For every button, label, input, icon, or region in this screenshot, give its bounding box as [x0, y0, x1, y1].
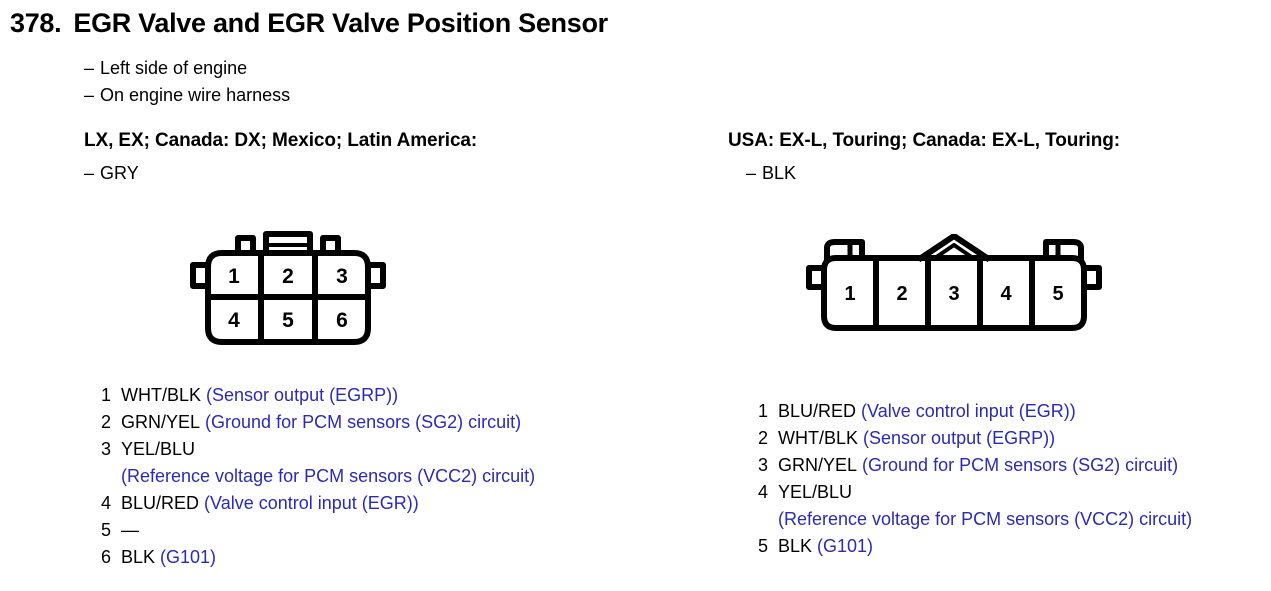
connector-pin-label-3: 3 — [336, 265, 348, 288]
pin-circuit-description: (Valve control input (EGR)) — [861, 401, 1076, 421]
pin-body: BLK(G101) — [121, 544, 704, 571]
connector-color-line-left: –GRY — [84, 163, 704, 184]
connector-pin-label-5: 5 — [1052, 283, 1063, 305]
connector-pin-label-4: 4 — [228, 309, 240, 332]
page-title-number: 378. — [10, 8, 61, 38]
pin-number: 4 — [758, 479, 778, 506]
connector-pin-label-5: 5 — [282, 309, 294, 332]
pin-row: 5 BLK(G101) — [758, 533, 1271, 560]
pin-number: 3 — [101, 436, 121, 463]
pin-body: GRN/YEL(Ground for PCM sensors (SG2) cir… — [121, 409, 704, 436]
pin-body: WHT/BLK(Sensor output (EGRP)) — [778, 425, 1271, 452]
column-heading-right: USA: EX-L, Touring; Canada: EX-L, Tourin… — [728, 130, 1271, 152]
pin-wire-color: WHT/BLK — [121, 385, 201, 405]
pin-wire-color: GRN/YEL — [778, 455, 857, 475]
intro-bullet-item: –On engine wire harness — [84, 82, 290, 109]
pin-circuit-description: (Ground for PCM sensors (SG2) circuit) — [205, 412, 521, 432]
pin-circuit-description: (Sensor output (EGRP)) — [863, 428, 1055, 448]
pin-wire-color: — — [121, 520, 139, 540]
column-heading-left: LX, EX; Canada: DX; Mexico; Latin Americ… — [84, 130, 704, 152]
pin-circuit-description: (Ground for PCM sensors (SG2) circuit) — [862, 455, 1178, 475]
dash-glyph: – — [84, 85, 94, 105]
pin-body: WHT/BLK(Sensor output (EGRP)) — [121, 382, 704, 409]
intro-bullet-item: –Left side of engine — [84, 55, 290, 82]
pin-number: 1 — [758, 398, 778, 425]
pin-row: 1 BLU/RED(Valve control input (EGR)) — [758, 398, 1271, 425]
connector-6pin-svg: 1 2 3 4 5 6 — [188, 220, 388, 350]
pin-wire-color: BLU/RED — [778, 401, 856, 421]
intro-bullet-text: Left side of engine — [100, 58, 247, 78]
dash-glyph: – — [84, 163, 94, 183]
pin-row: 4 BLU/RED(Valve control input (EGR)) — [101, 490, 704, 517]
pin-row: 3 YEL/BLU(Reference voltage for PCM sens… — [101, 436, 704, 490]
dash-glyph: – — [84, 58, 94, 78]
pin-number: 6 — [101, 544, 121, 571]
page-title-text: EGR Valve and EGR Valve Position Sensor — [73, 8, 608, 38]
connector-pin-label-1: 1 — [844, 283, 855, 305]
connector-pin-label-3: 3 — [948, 283, 959, 305]
pin-body: BLK(G101) — [778, 533, 1271, 560]
connector-pin-label-1: 1 — [228, 265, 240, 288]
dash-glyph: – — [746, 163, 756, 183]
pin-number: 2 — [101, 409, 121, 436]
pin-row: 2 GRN/YEL(Ground for PCM sensors (SG2) c… — [101, 409, 704, 436]
connector-pin-label-2: 2 — [896, 283, 907, 305]
pin-wire-color: YEL/BLU — [121, 439, 195, 459]
pin-row: 4 YEL/BLU(Reference voltage for PCM sens… — [758, 479, 1271, 533]
pin-circuit-description: (G101) — [817, 536, 873, 556]
page-title: 378.EGR Valve and EGR Valve Position Sen… — [10, 8, 608, 39]
pin-number: 1 — [101, 382, 121, 409]
connector-pin-label-2: 2 — [282, 265, 294, 288]
pin-circuit-description: (Valve control input (EGR)) — [204, 493, 419, 513]
pin-number: 2 — [758, 425, 778, 452]
connector-color-line-right: –BLK — [728, 163, 1271, 184]
pin-circuit-description: (Reference voltage for PCM sensors (VCC2… — [778, 506, 1271, 533]
connector-color-right: BLK — [762, 163, 796, 183]
connector-pin-label-4: 4 — [1000, 283, 1012, 305]
pin-body: BLU/RED(Valve control input (EGR)) — [121, 490, 704, 517]
pin-number: 3 — [758, 452, 778, 479]
pin-row: 3 GRN/YEL(Ground for PCM sensors (SG2) c… — [758, 452, 1271, 479]
connector-diagram-5pin: 1 2 3 4 5 — [804, 234, 1271, 384]
connector-pin-label-6: 6 — [336, 309, 348, 332]
pin-circuit-description: (Reference voltage for PCM sensors (VCC2… — [121, 463, 704, 490]
pin-body: YEL/BLU(Reference voltage for PCM sensor… — [121, 436, 704, 490]
pin-body: — — [121, 517, 704, 544]
connector-column-left: LX, EX; Canada: DX; Mexico; Latin Americ… — [84, 130, 704, 571]
pin-number: 5 — [758, 533, 778, 560]
pin-number: 5 — [101, 517, 121, 544]
pin-circuit-description: (Sensor output (EGRP)) — [206, 385, 398, 405]
connector-color-left: GRY — [100, 163, 139, 183]
pin-number: 4 — [101, 490, 121, 517]
pin-wire-color: WHT/BLK — [778, 428, 858, 448]
pin-wire-color: GRN/YEL — [121, 412, 200, 432]
intro-bullet-text: On engine wire harness — [100, 85, 290, 105]
pin-wire-color: BLU/RED — [121, 493, 199, 513]
pin-circuit-description: (G101) — [160, 547, 216, 567]
pin-row: 6 BLK(G101) — [101, 544, 704, 571]
pin-wire-color: BLK — [121, 547, 155, 567]
pin-row: 1 WHT/BLK(Sensor output (EGRP)) — [101, 382, 704, 409]
pin-list-left: 1 WHT/BLK(Sensor output (EGRP)) 2 GRN/YE… — [101, 382, 704, 571]
intro-bullet-list: –Left side of engine –On engine wire har… — [84, 55, 290, 109]
pin-body: YEL/BLU(Reference voltage for PCM sensor… — [778, 479, 1271, 533]
pin-list-right: 1 BLU/RED(Valve control input (EGR)) 2 W… — [758, 398, 1271, 560]
pin-wire-color: BLK — [778, 536, 812, 556]
pin-body: BLU/RED(Valve control input (EGR)) — [778, 398, 1271, 425]
connector-column-right: USA: EX-L, Touring; Canada: EX-L, Tourin… — [728, 130, 1271, 560]
pin-body: GRN/YEL(Ground for PCM sensors (SG2) cir… — [778, 452, 1271, 479]
pin-wire-color: YEL/BLU — [778, 482, 852, 502]
connector-5pin-svg: 1 2 3 4 5 — [804, 234, 1104, 334]
pin-row: 2 WHT/BLK(Sensor output (EGRP)) — [758, 425, 1271, 452]
connector-diagram-6pin: 1 2 3 4 5 6 — [188, 220, 704, 370]
pin-row: 5 — — [101, 517, 704, 544]
